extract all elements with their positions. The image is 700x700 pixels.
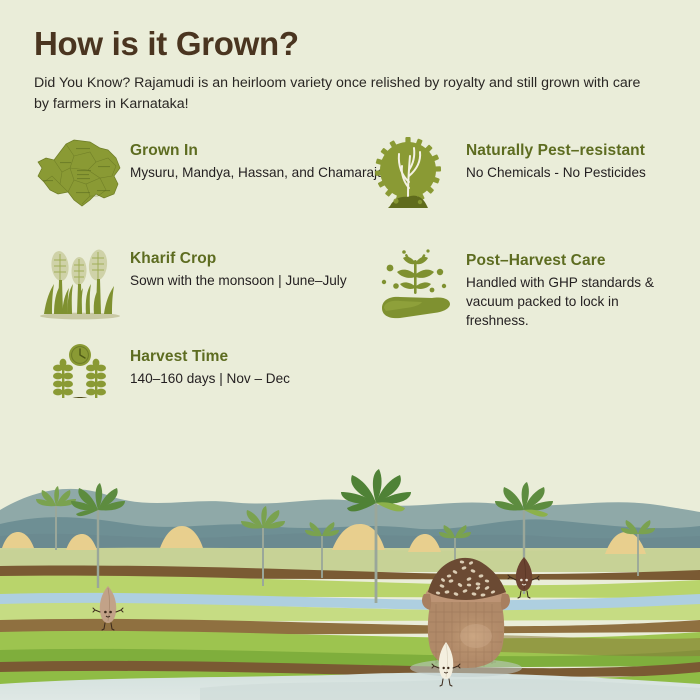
- paddy-stalks-icon: [34, 244, 126, 324]
- landscape-svg: [0, 398, 700, 700]
- feature-text-harvest-time: Harvest Time 140–160 days | Nov – Dec: [126, 342, 290, 389]
- feature-text-post-harvest-care: Post–Harvest Care Handled with GHP stand…: [462, 246, 674, 330]
- infographic-page: How is it Grown? Did You Know? Rajamudi …: [0, 0, 700, 700]
- feature-body: 140–160 days | Nov – Dec: [130, 370, 290, 389]
- pest-resistant-plant-icon: [370, 136, 462, 216]
- feature-text-pest-resistant: Naturally Pest–resistant No Chemicals - …: [462, 136, 646, 183]
- page-subtitle: Did You Know? Rajamudi is an heirloom va…: [34, 73, 654, 114]
- feature-item-pest-resistant: Naturally Pest–resistant No Chemicals - …: [370, 136, 646, 216]
- feature-heading: Kharif Crop: [130, 250, 347, 268]
- feature-heading: Harvest Time: [130, 348, 290, 366]
- feature-item-grown-in: Grown In Mysuru, Mandya, Hassan, and Cha…: [34, 136, 419, 216]
- feature-heading: Post–Harvest Care: [466, 252, 674, 270]
- feature-item-post-harvest-care: Post–Harvest Care Handled with GHP stand…: [370, 246, 674, 330]
- landscape-illustration: [0, 398, 700, 700]
- hand-holding-plant-icon: [370, 246, 462, 326]
- feature-body: Handled with GHP standards & vacuum pack…: [466, 274, 674, 330]
- header: How is it Grown? Did You Know? Rajamudi …: [34, 26, 674, 114]
- feature-heading: Naturally Pest–resistant: [466, 142, 646, 160]
- feature-item-kharif-crop: Kharif Crop Sown with the monsoon | June…: [34, 244, 347, 324]
- feature-text-kharif-crop: Kharif Crop Sown with the monsoon | June…: [126, 244, 347, 291]
- karnataka-map-icon: [34, 136, 126, 216]
- feature-body: No Chemicals - No Pesticides: [466, 164, 646, 183]
- feature-body: Sown with the monsoon | June–July: [130, 272, 347, 291]
- page-title: How is it Grown?: [34, 26, 674, 62]
